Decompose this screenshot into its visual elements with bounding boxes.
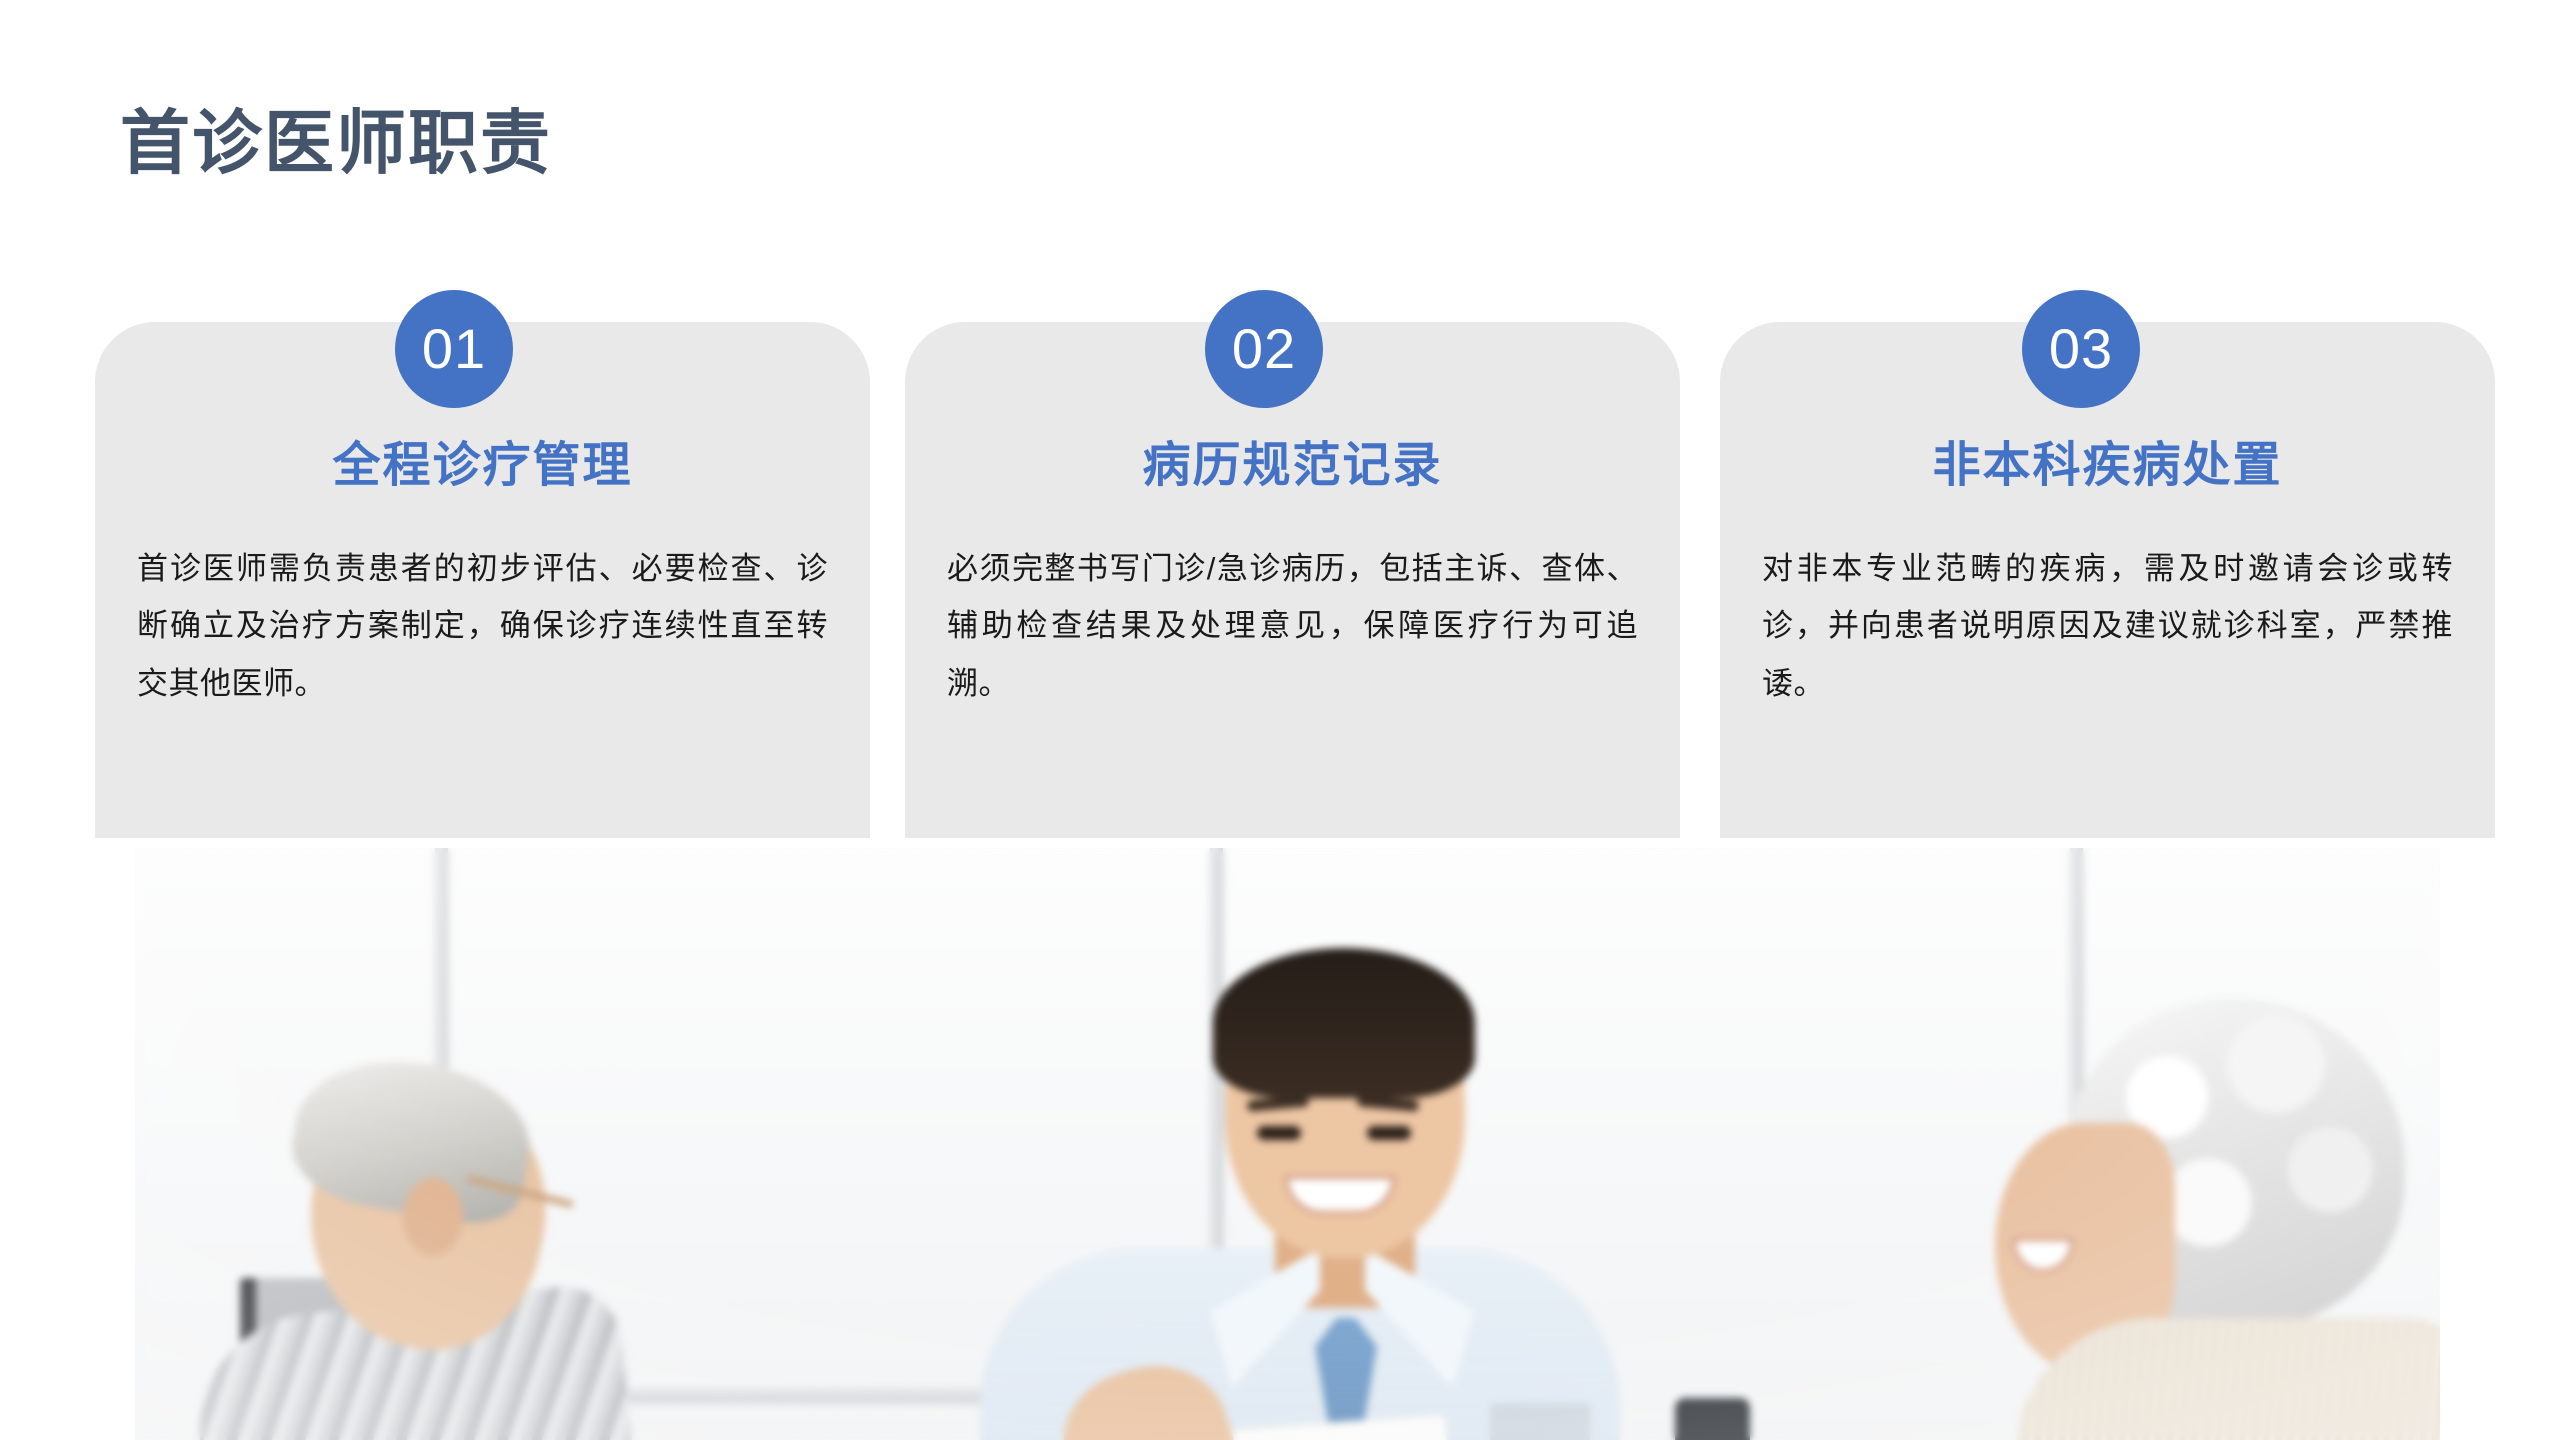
clinic-photo <box>135 848 2440 1440</box>
card-01-title: 全程诊疗管理 <box>95 440 870 493</box>
slide-root: 首诊医师职责 全程诊疗管理 首诊医师需负责患者的初步评估、必要检查、诊断确立及治… <box>0 0 2560 1440</box>
card-03-body: 对非本专业范畴的疾病，需及时邀请会诊或转诊，并向患者说明原因及建议就诊科室，严禁… <box>1762 540 2453 712</box>
number-badge-01: 01 <box>395 290 513 408</box>
number-badge-03: 03 <box>2022 290 2140 408</box>
doctor-eye-right <box>1367 1126 1411 1140</box>
card-01-body: 首诊医师需负责患者的初步评估、必要检查、诊断确立及治疗方案制定，确保诊疗连续性直… <box>137 540 828 712</box>
card-02-body: 必须完整书写门诊/急诊病历，包括主诉、查体、辅助检查结果及处理意见，保障医疗行为… <box>947 540 1638 712</box>
page-title: 首诊医师职责 <box>120 105 552 182</box>
office-chair <box>1675 1398 1750 1440</box>
card-02-title: 病历规范记录 <box>905 440 1680 493</box>
elderly-man-ear <box>403 1178 463 1256</box>
card-03-title: 非本科疾病处置 <box>1720 440 2495 493</box>
doctor-eye-left <box>1257 1126 1301 1140</box>
doctor-hair <box>1213 948 1475 1098</box>
number-badge-02: 02 <box>1205 290 1323 408</box>
doctor-pocket-badge <box>1490 1403 1590 1440</box>
